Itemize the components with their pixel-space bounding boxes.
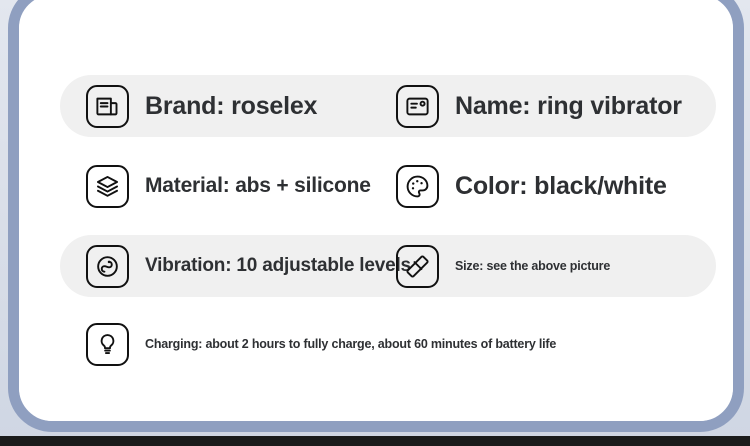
spec-item-charging: Charging: about 2 hours to fully charge,… <box>60 323 716 366</box>
id-card-icon <box>396 85 439 128</box>
spec-item-color: Color: black/white <box>390 165 716 208</box>
spec-item-name: Name: ring vibrator <box>390 85 716 128</box>
spec-row: Charging: about 2 hours to fully charge,… <box>60 313 716 375</box>
spec-item-brand: Brand: roselex <box>60 85 390 128</box>
newspaper-icon <box>86 85 129 128</box>
ruler-icon <box>396 245 439 288</box>
lightbulb-icon <box>86 323 129 366</box>
spec-sheet: Brand: roselex Name: ring vibrator <box>19 0 733 421</box>
bottom-dark-strip <box>0 436 750 446</box>
spec-item-size: Size: see the above picture <box>390 245 716 288</box>
spec-item-label: Brand: roselex <box>145 92 317 121</box>
palette-icon <box>396 165 439 208</box>
spec-item-material: Material: abs + silicone <box>60 165 390 208</box>
vibration-wave-icon <box>86 245 129 288</box>
spec-row: Material: abs + silicone Color: black/wh… <box>60 155 716 217</box>
spec-item-label: Material: abs + silicone <box>145 174 371 198</box>
product-spec-card: Brand: roselex Name: ring vibrator <box>0 0 750 446</box>
spec-row: Vibration: 10 adjustable levels Size: se… <box>60 235 716 297</box>
layers-icon <box>86 165 129 208</box>
spec-item-vibration: Vibration: 10 adjustable levels <box>60 245 390 288</box>
spec-item-label: Size: see the above picture <box>455 259 610 273</box>
spec-item-label: Charging: about 2 hours to fully charge,… <box>145 337 556 351</box>
spec-item-label: Color: black/white <box>455 172 667 201</box>
spec-item-label: Vibration: 10 adjustable levels <box>145 255 411 277</box>
spec-item-label: Name: ring vibrator <box>455 92 682 121</box>
spec-row: Brand: roselex Name: ring vibrator <box>60 75 716 137</box>
